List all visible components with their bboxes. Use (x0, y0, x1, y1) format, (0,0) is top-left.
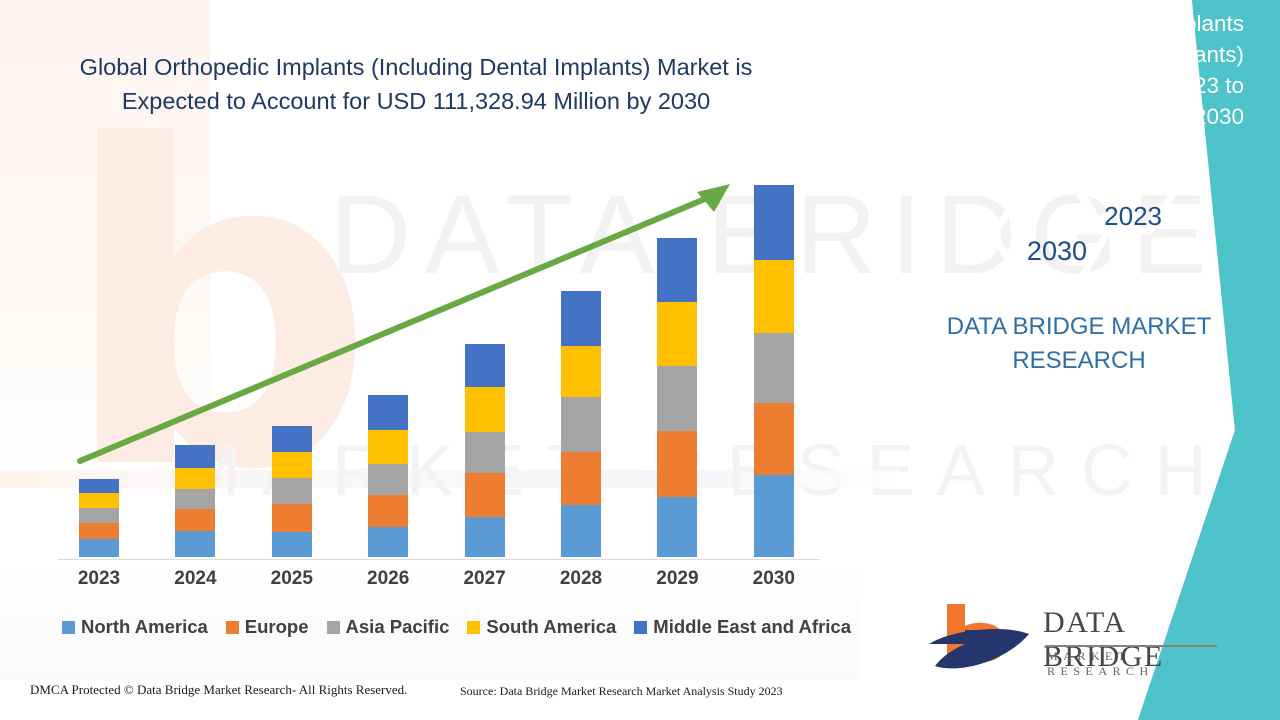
logo-divider (1045, 645, 1217, 647)
growth-trend-arrow (0, 0, 860, 720)
panel-title: Global Orthopedic Implants (Including De… (914, 8, 1244, 132)
legend-label: South America (486, 616, 616, 638)
hexagon-outlines (980, 145, 1220, 285)
logo-mark-icon (925, 600, 1035, 680)
year-hexagons: 2023 2030 (980, 145, 1220, 285)
legend-item[interactable]: North America (62, 616, 208, 638)
panel-brand-name: DATA BRIDGE MARKET RESEARCH (914, 310, 1244, 378)
legend-swatch-icon (467, 621, 480, 634)
hexagon-label-2030: 2030 (1027, 236, 1087, 267)
footer-copyright: DMCA Protected © Data Bridge Market Rese… (30, 682, 407, 698)
hexagon-label-2023: 2023 (1104, 201, 1162, 232)
right-side-panel: Global Orthopedic Implants (Including De… (810, 0, 1280, 720)
hexagon-2030-shape (994, 187, 1106, 283)
logo-text-secondary: MARKET RESEARCH (1047, 649, 1225, 679)
footer-source: Source: Data Bridge Market Research Mark… (460, 684, 783, 699)
chart-legend: North AmericaEuropeAsia PacificSouth Ame… (62, 614, 869, 640)
legend-item[interactable]: Europe (226, 616, 309, 638)
stacked-bar-chart: 20232024202520262027202820292030 (0, 0, 860, 720)
legend-swatch-icon (62, 621, 75, 634)
legend-swatch-icon (634, 621, 647, 634)
infographic-canvas: b DATA BRIDGE MARKET RESEARCH Global Ort… (0, 0, 1280, 720)
legend-item[interactable]: South America (467, 616, 616, 638)
legend-label: Asia Pacific (346, 616, 450, 638)
legend-swatch-icon (327, 621, 340, 634)
company-logo: DATA BRIDGE MARKET RESEARCH (925, 598, 1225, 682)
legend-label: North America (81, 616, 208, 638)
legend-swatch-icon (226, 621, 239, 634)
legend-label: Europe (245, 616, 309, 638)
legend-item[interactable]: Asia Pacific (327, 616, 450, 638)
